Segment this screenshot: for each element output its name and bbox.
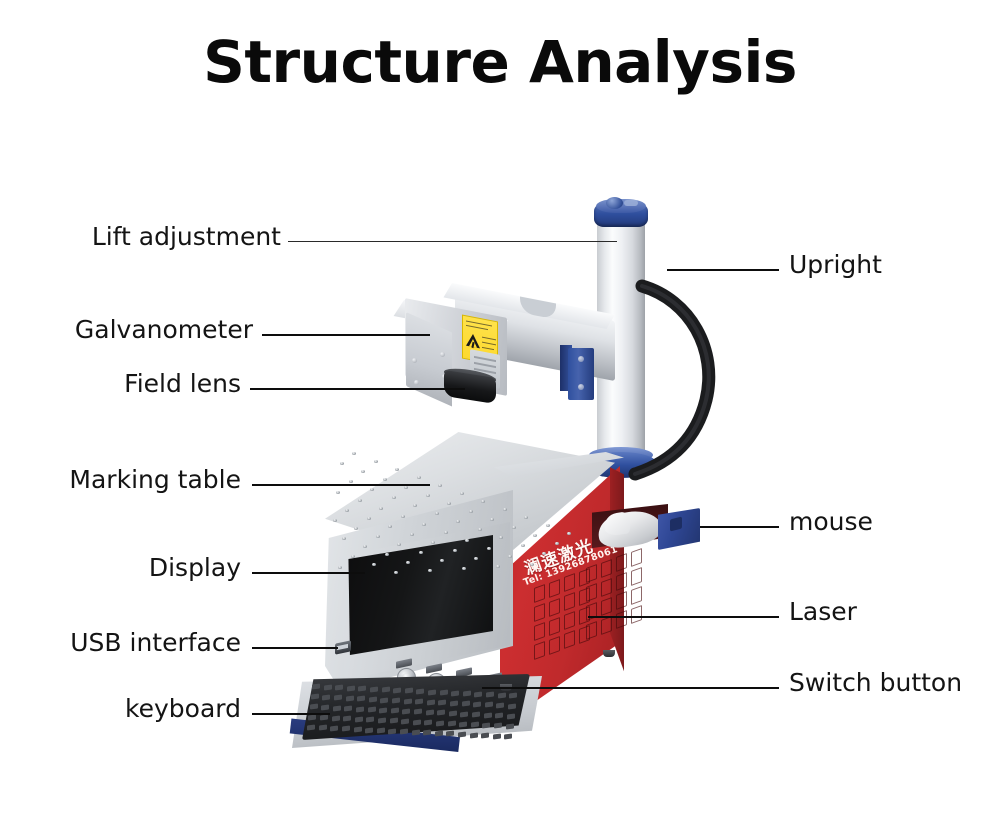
keyboard-key[interactable] [459,721,467,727]
leader-line-mouse [700,526,779,528]
leader-line-lift-adjustment [288,241,617,242]
marking-table-hole [338,566,342,569]
leader-line-galvanometer [262,334,430,336]
leader-line-keyboard [252,713,330,715]
marking-table-hole [465,539,469,542]
keyboard-key[interactable] [474,691,482,697]
marking-table-hole [410,533,414,536]
marking-table-hole [388,525,392,528]
laser-vent-slot [631,586,642,605]
laser-vent-slot [631,567,642,586]
callout-label-field-lens: Field lens [124,371,241,396]
keyboard-key[interactable] [365,727,373,733]
laser-vent-slot [616,572,627,591]
marking-table-hole [530,563,534,566]
keyboard-key[interactable] [504,734,512,740]
marking-table-hole [533,534,537,537]
marking-table-hole [438,484,442,487]
marking-table-hole [422,523,426,526]
callout-label-switch-button: Switch button [789,670,962,695]
keyboard-key[interactable] [346,695,354,701]
keyboard-key[interactable] [440,690,448,696]
laser-vent-slot [616,553,627,572]
keyboard-key[interactable] [458,731,466,737]
keyboard-key[interactable] [312,684,320,690]
marking-table-hole [440,559,444,562]
keyboard-key[interactable] [356,706,364,712]
keyboard-key[interactable] [404,698,412,704]
machine-foot [603,650,615,657]
keyboard-key[interactable] [393,687,401,693]
keyboard-key[interactable] [435,730,443,736]
keyboard-key[interactable] [450,700,458,706]
keyboard-key[interactable] [428,689,436,695]
keyboard-key[interactable] [347,685,355,691]
keyboard-key[interactable] [321,704,329,710]
keyboard-key[interactable] [388,728,396,734]
marking-table-hole [453,549,457,552]
keyboard-key[interactable] [369,696,377,702]
keyboard-key[interactable] [460,711,468,717]
leader-line-switch-button [482,687,779,689]
keyboard-key[interactable] [402,708,410,714]
marking-table-hole [345,509,349,512]
lift-adjustment-slot [624,200,638,206]
marking-table-hole [419,551,423,554]
marking-table-hole [417,476,421,479]
marking-table-hole [352,452,356,455]
keyboard-key[interactable] [322,694,330,700]
keyboard-key[interactable] [307,724,315,730]
galvo-screw [414,380,419,385]
keyboard-key[interactable] [508,703,516,709]
bracket-screw [578,356,584,362]
marking-table-hole [376,535,380,538]
keyboard-key[interactable] [481,733,489,739]
marking-table-hole [496,565,500,568]
marking-table-hole [567,532,571,535]
callout-label-usb-interface: USB interface [70,630,241,655]
marking-table-hole [361,470,365,473]
marking-table-hole [444,531,448,534]
marking-table-hole [395,468,399,471]
marking-table-hole [367,517,371,520]
lift-adjustment-knob[interactable] [606,197,623,209]
marking-table-hole [385,553,389,556]
keyboard-key[interactable] [401,719,409,725]
marking-table-hole [503,508,507,511]
marking-table-hole [397,543,401,546]
keyboard-key[interactable] [498,692,506,698]
keyboard-key[interactable] [412,729,420,735]
keyboard-key[interactable] [506,723,514,729]
marking-table-hole [524,516,528,519]
keyboard-key[interactable] [332,715,340,721]
keyboard-key[interactable] [379,707,387,713]
marking-table-hole [487,547,491,550]
marking-table-hole [469,510,473,513]
keyboard-key[interactable] [416,688,424,694]
callout-label-lift-adjustment: Lift adjustment [92,224,281,249]
keyboard-key[interactable] [333,705,341,711]
marking-table-hole [354,527,358,530]
keyboard-key[interactable] [482,722,490,728]
keyboard-key[interactable] [324,684,332,690]
galvo-screw [440,352,445,357]
marking-table-hole [340,462,344,465]
marking-table-hole [333,519,337,522]
callout-label-laser: Laser [789,599,857,624]
marking-table-hole [349,480,353,483]
callout-label-mouse: mouse [789,509,873,534]
keyboard-key[interactable] [493,733,501,739]
keyboard-key[interactable] [449,711,457,717]
callout-label-marking-table: Marking table [69,467,241,492]
marking-table-hole [508,555,512,558]
marking-table-hole [521,544,525,547]
keyboard-key[interactable] [354,727,362,733]
laser-vent-slot [616,610,627,629]
keyboard-key[interactable] [473,701,481,707]
marking-table-hole [374,460,378,463]
marking-table-hole [428,569,432,572]
marking-table-hole [462,567,466,570]
leader-line-field-lens [250,388,465,390]
galvo-screw [412,358,417,363]
marking-table-hole [546,524,550,527]
keyboard-key[interactable] [355,716,363,722]
callout-label-display: Display [149,555,241,580]
marking-table-hole [342,537,346,540]
keyboard-key[interactable] [451,690,459,696]
laser-vent-slot [631,605,642,624]
leader-line-laser [588,616,779,618]
marking-table-hole [481,500,485,503]
marking-table-hole [401,515,405,518]
marking-table-hole [460,492,464,495]
marking-table-hole [358,499,362,502]
bracket-screw [578,384,584,390]
keyboard-key[interactable] [507,713,515,719]
structure-analysis-diagram: Structure Analysis [0,0,1000,816]
keyboard-key[interactable] [330,725,338,731]
marking-table-hole [431,541,435,544]
keyboard-key[interactable] [484,712,492,718]
keyboard-key[interactable] [436,720,444,726]
leader-line-marking-table [252,484,430,486]
marking-table-hole [336,491,340,494]
keyboard-key[interactable] [380,697,388,703]
callout-label-upright: Upright [789,252,882,277]
keyboard-key[interactable] [392,698,400,704]
keyboard-key[interactable] [426,709,434,715]
marking-table-hole [379,507,383,510]
keyboard-key[interactable] [413,719,421,725]
leader-line-upright [667,269,779,271]
leader-line-usb-interface [252,647,338,649]
laser-vent-slot [631,548,642,567]
leader-line-display [252,572,365,574]
marking-table-hole [474,557,478,560]
marking-table-hole [555,542,559,545]
marking-table-hole [426,494,430,497]
keyboard-key[interactable] [470,732,478,738]
marking-table-hole [512,526,516,529]
callout-label-galvanometer: Galvanometer [75,317,253,342]
keyboard-key[interactable] [378,717,386,723]
callout-label-keyboard: keyboard [125,696,241,721]
keyboard-key[interactable] [427,699,435,705]
laser-vent-slot [616,591,627,610]
keyboard-key[interactable] [370,686,378,692]
marking-table-hole [383,478,387,481]
